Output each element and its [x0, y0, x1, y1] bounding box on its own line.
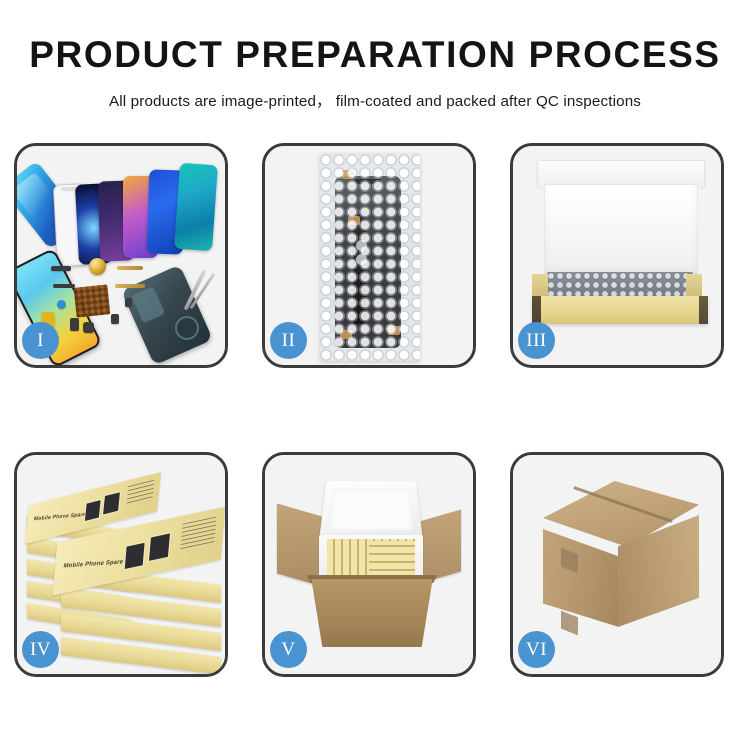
panel-stacked-boxes[interactable]: Mobile Phone Spare Parts Mobile Phone Sp… [14, 452, 228, 677]
panel-sealed-carton[interactable]: VI [510, 452, 724, 677]
flex-cable-b [115, 284, 145, 288]
box-window-rear-b [102, 491, 121, 516]
step-badge-4: IV [22, 631, 59, 668]
panel-carton-loading[interactable]: V [262, 452, 476, 677]
box-window-rear-a [84, 499, 102, 522]
flex-cable-c [53, 284, 75, 288]
yellow-boxes-inside-secondary [369, 541, 415, 577]
part-connector [51, 266, 71, 271]
wrapped-dot-b [356, 254, 367, 265]
header: PRODUCT PREPARATION PROCESS All products… [0, 0, 750, 111]
carton-body [303, 579, 441, 647]
box-window-front-b [148, 532, 171, 562]
carton-tape-lower [561, 611, 578, 636]
vibration-motor [89, 258, 106, 275]
carton-left-face [543, 529, 619, 627]
wrapped-flex-cable [353, 214, 366, 324]
styrofoam-lid [319, 481, 423, 539]
step-badge-2: II [270, 322, 307, 359]
step-badge-3: III [518, 322, 555, 359]
wrapped-screen-assembly [335, 176, 401, 348]
page-subtitle: All products are image-printed， film-coa… [0, 89, 750, 111]
step-badge-6: VI [518, 631, 555, 668]
part-button [57, 300, 66, 309]
part-bracket [70, 318, 79, 331]
panel-grid: I II III [14, 143, 736, 677]
step-badge-1: I [22, 322, 59, 359]
wrapped-tape-a [348, 216, 360, 225]
screw-grid [74, 284, 111, 317]
part-shield [111, 314, 119, 324]
panel-spare-parts[interactable]: I [14, 143, 228, 368]
part-camera [83, 322, 94, 333]
bubble-wrap-bag [320, 154, 420, 361]
wrapped-tape-c [340, 330, 352, 339]
part-clip [125, 298, 132, 307]
box-front-panel [532, 296, 708, 324]
wrapped-tape-d [388, 326, 400, 335]
box-lid-flap [537, 160, 705, 187]
box-spec-lines-front [180, 517, 216, 553]
phone-display-teal [174, 163, 218, 251]
white-foam-liner [544, 184, 698, 276]
wrapped-dot-a [356, 240, 367, 251]
wrapped-tape-b [342, 170, 354, 179]
page-title: PRODUCT PREPARATION PROCESS [0, 36, 750, 75]
panel-bubble-wrap[interactable]: II [262, 143, 476, 368]
box-window-front-a [124, 542, 146, 571]
panel-foam-box[interactable]: III [510, 143, 724, 368]
box-spec-lines-rear [126, 480, 154, 507]
step-badge-5: V [270, 631, 307, 668]
flex-cable-a [117, 266, 143, 270]
